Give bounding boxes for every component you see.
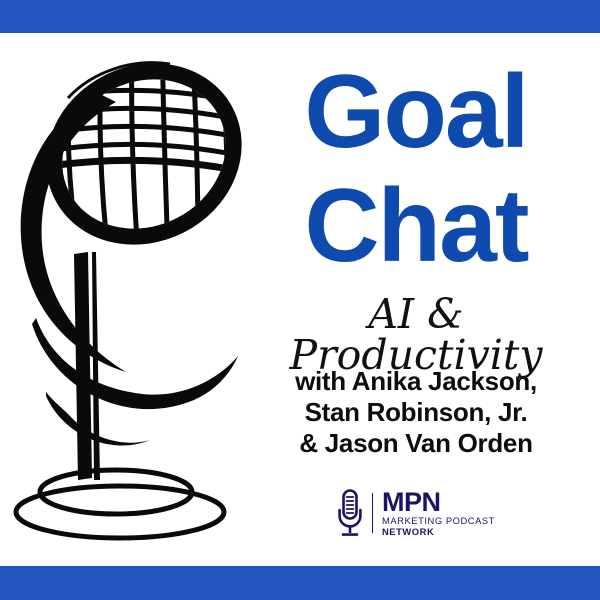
host-credit-line-2: Stan Robinson, Jr.: [240, 397, 592, 428]
host-credits: with Anika Jackson, Stan Robinson, Jr. &…: [240, 366, 592, 459]
cover-text-column: Goal Chat AI & Productivity with Anika J…: [240, 36, 592, 566]
logo-divider: [372, 493, 373, 533]
mpn-name: MPN: [382, 489, 495, 515]
mpn-tagline-line-1: MARKETING PODCAST: [382, 515, 495, 526]
host-credit-line-3: & Jason Van Orden: [240, 428, 592, 459]
mpn-logo: MPN MARKETING PODCAST NETWORK: [240, 488, 592, 538]
page-title-line-1: Goal: [240, 60, 592, 164]
bottom-accent-band: [0, 566, 600, 600]
microphone-icon: [337, 488, 363, 538]
subtitle: AI & Productivity: [240, 294, 592, 376]
podcast-cover-art: Goal Chat AI & Productivity with Anika J…: [0, 0, 600, 600]
page-title-line-2: Chat: [240, 174, 592, 278]
top-accent-band: [0, 0, 600, 33]
mpn-wordmark: MPN MARKETING PODCAST NETWORK: [382, 489, 495, 537]
vintage-microphone-illustration: [8, 36, 248, 556]
host-credit-line-1: with Anika Jackson,: [240, 366, 592, 397]
mpn-tagline-line-2: NETWORK: [382, 526, 495, 537]
